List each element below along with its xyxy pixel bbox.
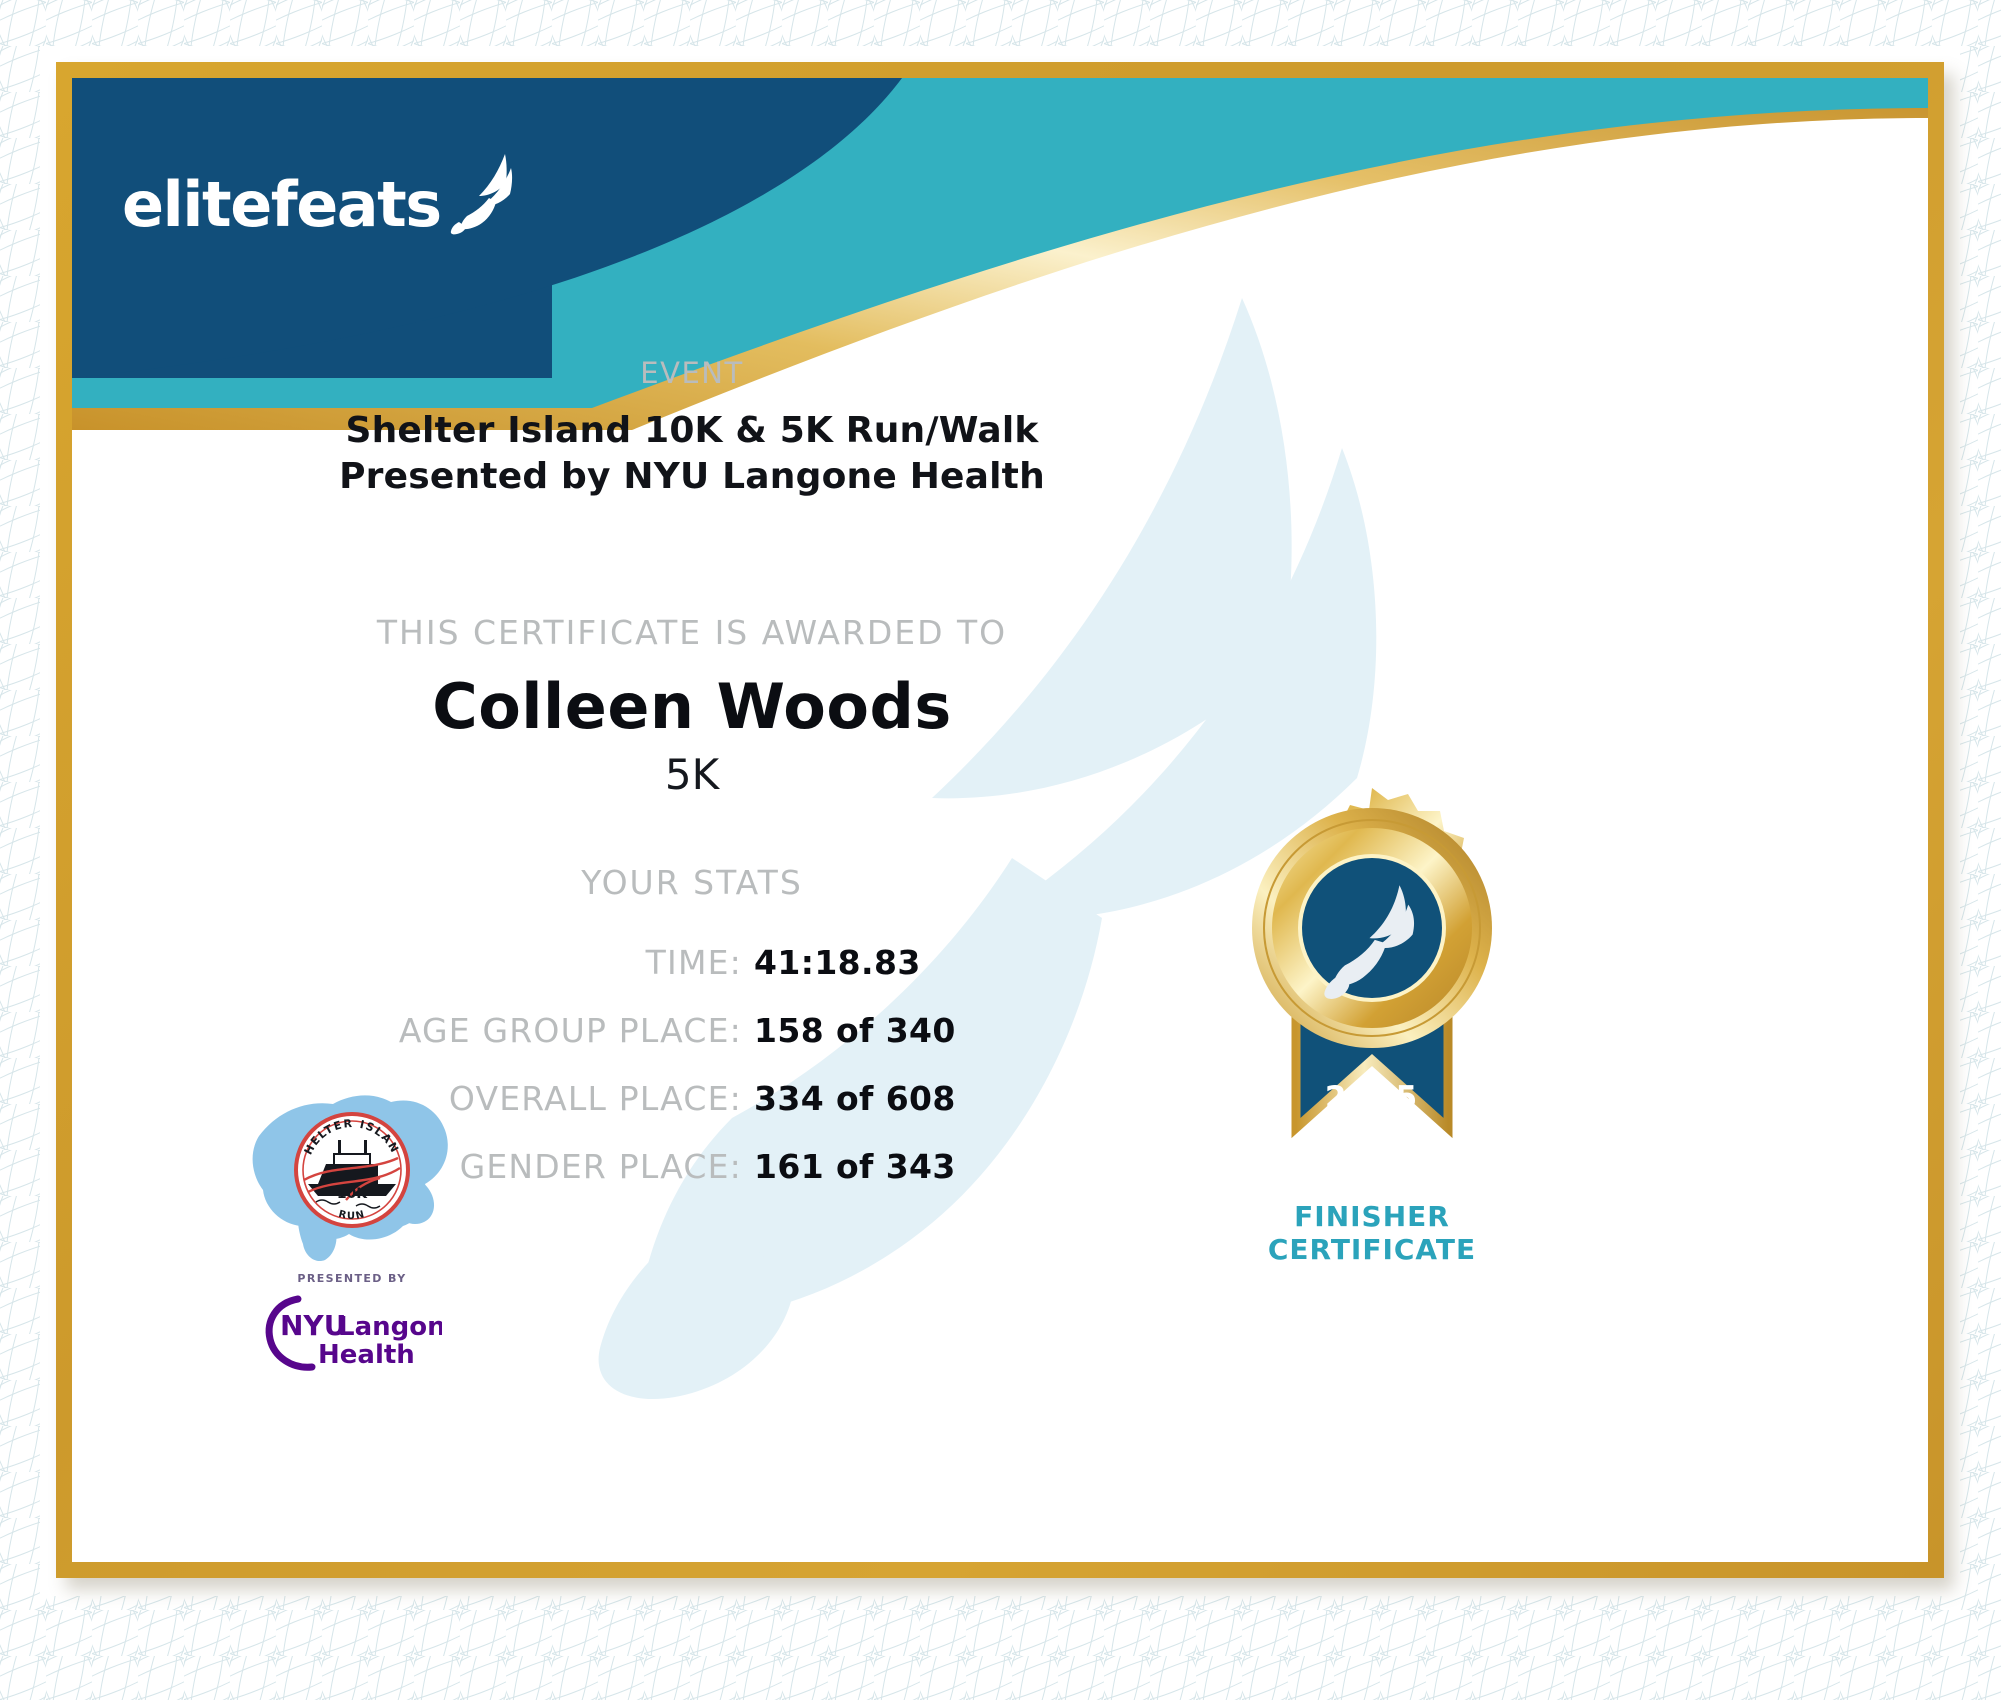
event-name: Shelter Island 10K & 5K Run/Walk Present… bbox=[72, 408, 1312, 500]
stat-value-age-group-place: 158 of 340 bbox=[742, 1011, 1162, 1050]
svg-text:10K: 10K bbox=[337, 1186, 368, 1202]
certificate-inner: elitefeats bbox=[72, 78, 1928, 1562]
stat-row-age-group-place: AGE GROUP PLACE: 158 of 340 bbox=[72, 1011, 1312, 1050]
badge-caption-line1: FINISHER bbox=[1202, 1200, 1542, 1233]
recipient-name: Colleen Woods bbox=[72, 670, 1312, 743]
certificate-page: elitefeats bbox=[0, 0, 2001, 1700]
event-name-line1: Shelter Island 10K & 5K Run/Walk bbox=[72, 408, 1312, 454]
shelter-island-10k-logo: SHELTER ISLAND 10K RUN bbox=[247, 1078, 457, 1268]
finisher-badge: 2025 FINISHER CERTIFICATE bbox=[1202, 778, 1542, 1266]
badge-caption-line2: CERTIFICATE bbox=[1202, 1233, 1542, 1266]
nyu-langone-health-logo: NYU Langone Health bbox=[262, 1291, 442, 1375]
brand-wordmark: elitefeats bbox=[122, 174, 441, 236]
event-name-line2: Presented by NYU Langone Health bbox=[72, 454, 1312, 500]
presented-by-label: PRESENTED BY bbox=[202, 1272, 502, 1285]
certificate-body: EVENT Shelter Island 10K & 5K Run/Walk P… bbox=[72, 78, 1928, 1562]
stat-value-gender-place: 161 of 343 bbox=[742, 1147, 1162, 1186]
medal-ribbon-icon: 2025 bbox=[1222, 778, 1522, 1198]
svg-text:NYU: NYU bbox=[280, 1309, 346, 1342]
stat-row-time: TIME: 41:18.83 bbox=[72, 943, 1312, 982]
stat-key-time: TIME: bbox=[222, 943, 742, 982]
sponsor-block: SHELTER ISLAND 10K RUN PRESENTED BY NY bbox=[202, 1078, 502, 1375]
stat-key-age-group-place: AGE GROUP PLACE: bbox=[222, 1011, 742, 1050]
your-stats-label: YOUR STATS bbox=[72, 863, 1312, 902]
event-label: EVENT bbox=[72, 356, 1312, 390]
winged-foot-icon bbox=[445, 150, 525, 236]
badge-year: 2025 bbox=[1325, 1080, 1419, 1116]
stat-value-time: 41:18.83 bbox=[742, 943, 1162, 982]
badge-caption: FINISHER CERTIFICATE bbox=[1202, 1200, 1542, 1266]
svg-text:Langone: Langone bbox=[338, 1312, 442, 1342]
svg-text:Health: Health bbox=[318, 1340, 415, 1370]
stat-value-overall-place: 334 of 608 bbox=[742, 1079, 1162, 1118]
race-distance: 5K bbox=[72, 750, 1312, 799]
brand-logo: elitefeats bbox=[122, 150, 525, 236]
gold-frame: elitefeats bbox=[56, 62, 1944, 1578]
awarded-to-label: THIS CERTIFICATE IS AWARDED TO bbox=[72, 613, 1312, 652]
